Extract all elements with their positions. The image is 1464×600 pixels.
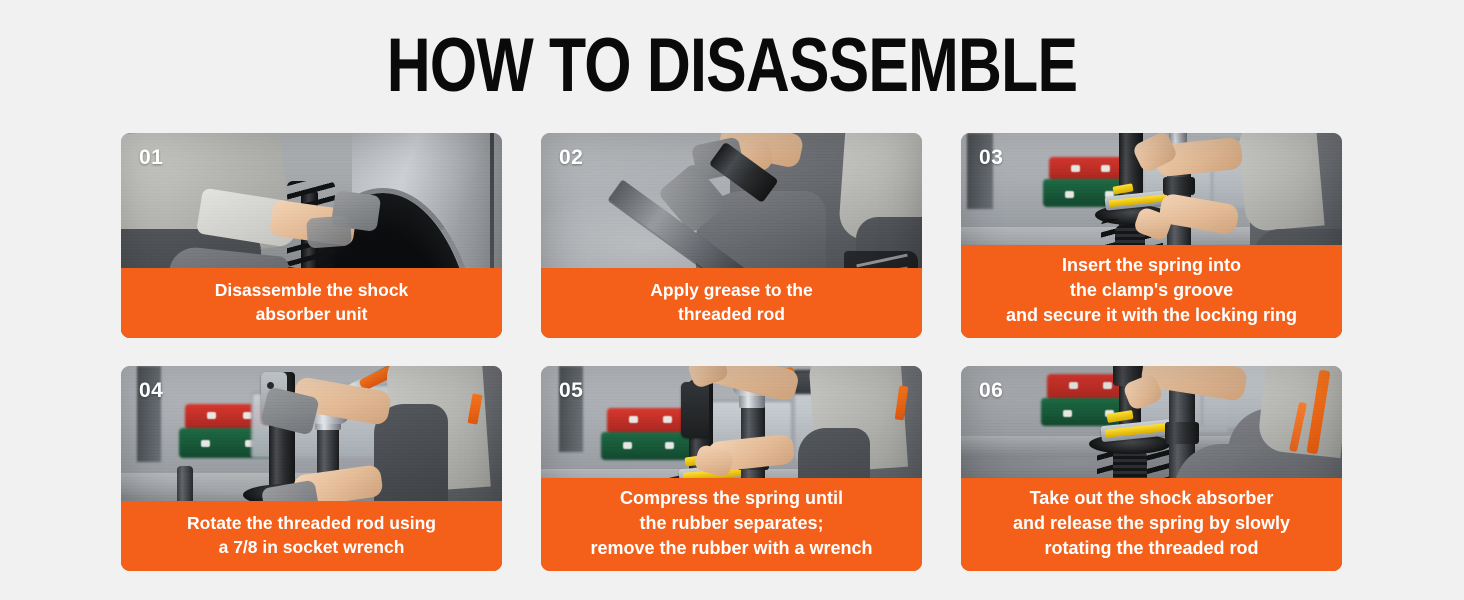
- step-card-04: 04 Rotate the threaded rod using a 7/8 i…: [121, 366, 502, 571]
- step-number: 02: [559, 147, 583, 168]
- step-number: 01: [139, 147, 163, 168]
- step-number: 03: [979, 147, 1003, 168]
- step-card-06: 06 Take out the shock absorber and relea…: [961, 366, 1342, 571]
- step-caption: Disassemble the shock absorber unit: [121, 268, 502, 338]
- step-number: 04: [139, 380, 163, 401]
- steps-grid: 01 Disassemble the shock absorber unit: [121, 133, 1344, 571]
- step-caption: Rotate the threaded rod using a 7/8 in s…: [121, 501, 502, 571]
- step-card-05: 05 Compress the spring until the rubber …: [541, 366, 922, 571]
- step-card-02: 02 Apply grease to the threaded rod: [541, 133, 922, 338]
- step-caption: Insert the spring into the clamp's groov…: [961, 245, 1342, 338]
- step-caption: Take out the shock absorber and release …: [961, 478, 1342, 571]
- infographic-page: HOW TO DISASSEMBLE: [0, 0, 1464, 600]
- page-title: HOW TO DISASSEMBLE: [146, 26, 1317, 106]
- step-caption: Compress the spring until the rubber sep…: [541, 478, 922, 571]
- step-caption: Apply grease to the threaded rod: [541, 268, 922, 338]
- step-card-03: 03 Insert the spring into the clamp's gr…: [961, 133, 1342, 338]
- step-card-01: 01 Disassemble the shock absorber unit: [121, 133, 502, 338]
- step-number: 05: [559, 380, 583, 401]
- step-number: 06: [979, 380, 1003, 401]
